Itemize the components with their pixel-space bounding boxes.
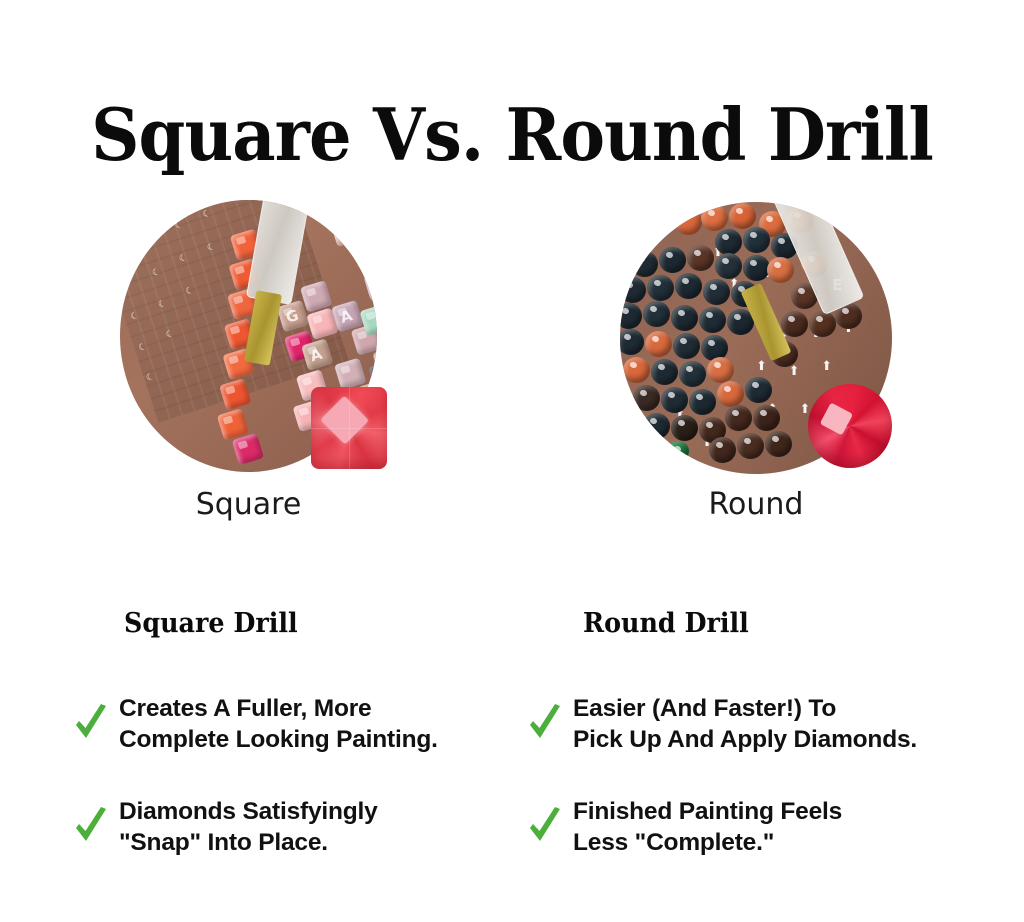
benefit-text: Creates A Fuller, More Complete Looking … — [119, 693, 438, 755]
gem-facet-highlight — [320, 395, 369, 444]
benefit-item: Finished Painting Feels Less "Complete." — [528, 796, 842, 858]
loose-square-drill-gem — [311, 387, 387, 469]
benefit-text: Finished Painting Feels Less "Complete." — [573, 796, 842, 858]
heading-round-drill: Round Drill — [583, 608, 749, 639]
benefit-text: Diamonds Satisfyingly "Snap" Into Place. — [119, 796, 378, 858]
benefit-item: Easier (And Faster!) To Pick Up And Appl… — [528, 693, 917, 755]
caption-round: Round — [620, 487, 892, 522]
heading-square-drill: Square Drill — [124, 608, 298, 639]
page-title: Square Vs. Round Drill — [36, 92, 988, 178]
gem-facet-highlight — [820, 402, 853, 435]
check-icon — [74, 807, 108, 847]
check-icon — [74, 704, 108, 744]
benefit-item: Diamonds Satisfyingly "Snap" Into Place. — [74, 796, 378, 858]
benefit-text: Easier (And Faster!) To Pick Up And Appl… — [573, 693, 917, 755]
benefit-item: Creates A Fuller, More Complete Looking … — [74, 693, 438, 755]
loose-round-drill-gem — [808, 384, 892, 468]
check-icon — [528, 807, 562, 847]
caption-square: Square — [120, 487, 377, 522]
infographic-page: Square Vs. Round Drill ☾ ☾ ☾ ☾ ☾ ☾ ☾ ☾ ☾… — [0, 0, 1024, 922]
check-icon — [528, 704, 562, 744]
